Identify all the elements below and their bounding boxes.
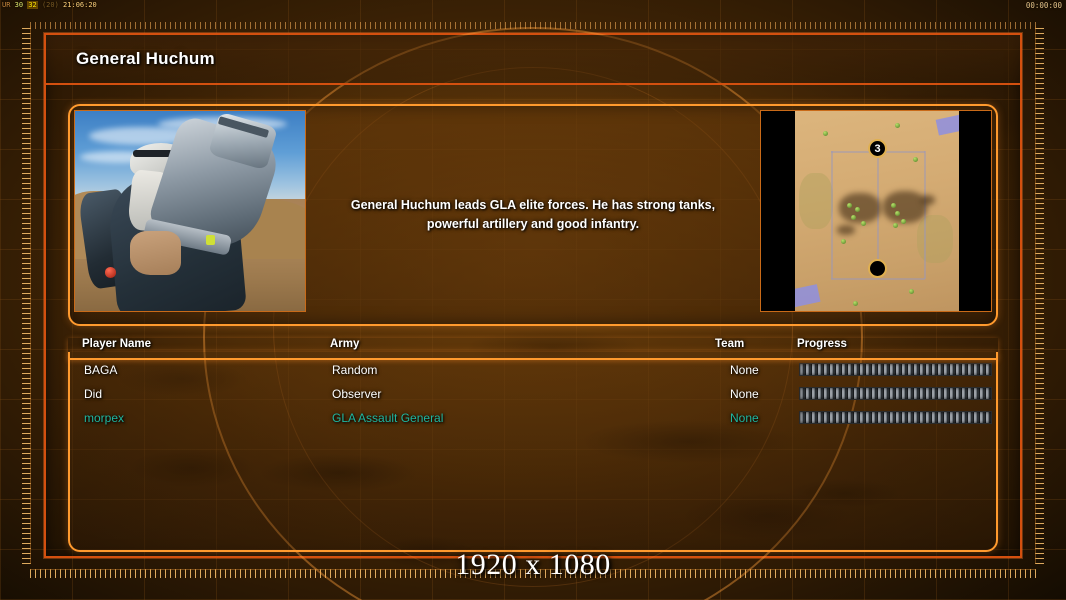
map-terrain-patch: [799, 173, 833, 229]
map-road: [831, 151, 833, 279]
title-bar: General Huchum: [46, 35, 1020, 85]
table-row[interactable]: DidObserverNone: [70, 382, 996, 406]
map-dark-area: [883, 191, 927, 223]
column-header-team: Team: [715, 338, 744, 350]
column-header-progress: Progress: [797, 338, 847, 350]
map-dark-area: [921, 195, 935, 205]
map-vegetation: [841, 239, 846, 244]
cell-player-name: BAGA: [84, 363, 117, 377]
cell-team[interactable]: None: [730, 411, 759, 425]
portrait-arm: [130, 231, 181, 275]
portrait-artwork: [75, 111, 305, 311]
map-vegetation: [851, 215, 856, 220]
map-vegetation: [891, 203, 896, 208]
progress-bar: [799, 363, 992, 376]
column-header-player-name: Player Name: [82, 338, 151, 350]
column-header-army: Army: [330, 338, 359, 350]
map-vegetation: [855, 207, 860, 212]
resolution-label: 1920 x 1080: [0, 548, 1066, 582]
map-start-position[interactable]: 3: [868, 139, 887, 158]
player-table-header: Player Name Army Team Progress: [68, 338, 998, 360]
map-vegetation: [895, 123, 900, 128]
cell-player-name: Did: [84, 387, 102, 401]
cell-player-name: morpex: [84, 411, 124, 425]
map-water-area: [936, 114, 959, 135]
cell-team[interactable]: None: [730, 363, 759, 377]
map-vegetation: [895, 211, 900, 216]
map-vegetation: [913, 157, 918, 162]
table-row[interactable]: morpexGLA Assault GeneralNone: [70, 406, 996, 430]
map-vegetation: [847, 203, 852, 208]
general-description: General Huchum leads GLA elite forces. H…: [318, 106, 748, 324]
table-row[interactable]: BAGARandomNone: [70, 358, 996, 382]
map-preview-frame[interactable]: 3: [760, 110, 992, 312]
map-start-position-label: 3: [874, 143, 880, 155]
fps-label: UR: [2, 1, 10, 9]
map-vegetation: [861, 221, 866, 226]
clock-overlay: 00:00:00: [1026, 1, 1062, 10]
ruler-strip-top: [30, 22, 1036, 29]
fps-debug-overlay: UR 30 32 (20) 21:06:20: [0, 0, 99, 11]
map-vegetation: [823, 131, 828, 136]
portrait-accent: [206, 235, 215, 245]
cell-army[interactable]: Observer: [332, 387, 381, 401]
map-water-area: [795, 284, 821, 308]
map-dark-area: [839, 193, 881, 223]
map-vegetation: [909, 289, 914, 294]
page-title: General Huchum: [46, 49, 215, 69]
map-start-position[interactable]: [868, 259, 887, 278]
ruler-strip-left: [22, 26, 31, 564]
map-vegetation: [893, 223, 898, 228]
progress-bar: [799, 387, 992, 400]
cell-army[interactable]: GLA Assault General: [332, 411, 443, 425]
game-lobby-screen: UR 30 32 (20) 21:06:20 00:00:00 General …: [0, 0, 1066, 600]
general-description-text: General Huchum leads GLA elite forces. H…: [328, 196, 738, 234]
map-vegetation: [853, 301, 858, 306]
map-dark-area: [837, 225, 855, 235]
fps-value-a: 30: [15, 1, 23, 9]
fps-value-c: (20): [42, 1, 59, 9]
map-preview-image: 3: [795, 111, 959, 312]
elapsed-time: 21:06:20: [63, 1, 97, 9]
fps-value-b: 32: [27, 1, 37, 9]
ruler-strip-right: [1035, 26, 1044, 564]
progress-bar: [799, 411, 992, 424]
map-vegetation: [901, 219, 906, 224]
cell-team[interactable]: None: [730, 387, 759, 401]
cell-army[interactable]: Random: [332, 363, 377, 377]
general-portrait: [74, 110, 306, 312]
player-list-panel: BAGARandomNoneDidObserverNonemorpexGLA A…: [68, 352, 998, 552]
map-terrain-patch: [917, 215, 953, 263]
general-info-panel: General Huchum leads GLA elite forces. H…: [68, 104, 998, 326]
